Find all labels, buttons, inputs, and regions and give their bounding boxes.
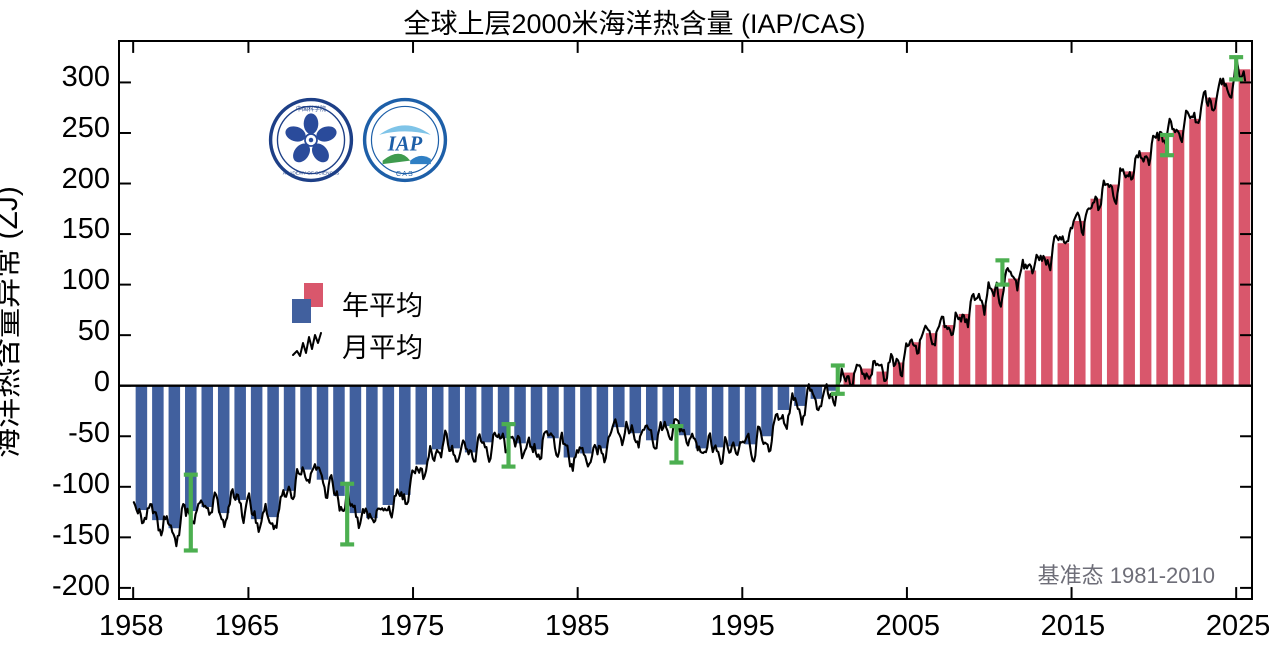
annual-bar	[662, 386, 674, 426]
svg-text:IAP: IAP	[387, 133, 423, 155]
legend-item-annual: 年平均	[290, 282, 423, 324]
legend-label-annual: 年平均	[342, 284, 423, 323]
annual-bar	[136, 386, 148, 510]
annual-bar	[975, 305, 987, 386]
annual-bar	[564, 386, 576, 458]
annual-bar	[597, 386, 609, 449]
annual-bar	[267, 386, 279, 517]
annual-bar	[284, 386, 296, 491]
annual-bar	[350, 386, 362, 513]
annual-bar	[152, 386, 164, 520]
annual-bar	[432, 386, 444, 450]
annual-bar	[580, 386, 592, 454]
annual-bar	[416, 386, 428, 465]
annual-bar	[317, 386, 329, 480]
note-unit: 1 泽塔焦耳 (ZJ) = 1021焦耳	[954, 594, 1215, 600]
annual-bar	[1156, 135, 1168, 386]
annual-bar	[218, 386, 230, 513]
x-tick-label: 2015	[1003, 610, 1143, 643]
annual-bar	[1173, 130, 1185, 386]
annual-bar	[1189, 119, 1201, 386]
note-baseline: 基准态 1981-2010	[1038, 558, 1215, 590]
annual-bar	[1239, 69, 1251, 385]
annual-bar	[399, 386, 411, 495]
legend: 年平均 月平均	[290, 282, 423, 366]
annual-bar	[1058, 243, 1070, 386]
annual-bar	[300, 386, 312, 470]
annual-bar	[1107, 185, 1119, 386]
annual-bar	[251, 386, 263, 519]
annual-bar	[547, 386, 559, 439]
legend-label-monthly: 月平均	[342, 326, 423, 365]
x-tick-label: 1965	[177, 610, 317, 643]
iap-logo: IAP CAS	[362, 97, 448, 183]
x-tick-label: 1995	[672, 610, 812, 643]
annual-bar	[169, 386, 181, 529]
annual-bar	[1123, 171, 1135, 385]
annual-bar	[366, 386, 378, 518]
ocean-heat-content-figure: 全球上层2000米海洋热含量 (IAP/CAS) 300250200150100…	[0, 0, 1269, 663]
annual-bar	[1222, 82, 1234, 385]
annual-swatch-icon	[290, 283, 330, 323]
svg-text:中国科学院: 中国科学院	[296, 105, 326, 113]
annual-bar	[201, 386, 213, 507]
annual-bar	[531, 386, 543, 450]
annual-bar	[1090, 199, 1102, 386]
annual-bar	[1008, 279, 1020, 386]
annual-bar	[761, 386, 773, 437]
note-unit-prefix: 1 泽塔焦耳 (ZJ) = 10	[954, 599, 1155, 600]
annual-bar	[448, 386, 460, 449]
annual-bar	[514, 386, 526, 444]
annual-bar	[695, 386, 707, 449]
annual-bar	[712, 386, 724, 448]
annual-bar	[1025, 270, 1037, 385]
annual-bar	[383, 386, 395, 505]
annual-bar	[333, 386, 345, 496]
x-tick-label: 2005	[838, 610, 978, 643]
note-unit-exponent: 21	[1155, 598, 1171, 600]
monthly-line-icon	[290, 325, 330, 365]
svg-text:CAS: CAS	[396, 171, 414, 178]
annual-bar	[465, 386, 477, 453]
annual-bar	[234, 386, 246, 500]
x-tick-label: 1975	[342, 610, 482, 643]
x-tick-label: 1985	[507, 610, 647, 643]
note-unit-suffix: 焦耳	[1171, 599, 1215, 600]
cas-logo: 中国科学院 ACADEMY OF SCIENCES	[268, 97, 354, 183]
annual-bar	[1206, 98, 1218, 386]
annual-bar	[1041, 256, 1053, 385]
annual-bar	[1140, 152, 1152, 386]
logo-group: 中国科学院 ACADEMY OF SCIENCES IAP CAS	[268, 97, 448, 189]
annual-bar	[481, 386, 493, 443]
annual-bar	[728, 386, 740, 447]
annual-bar	[778, 386, 790, 410]
x-tick-label: 2025	[1168, 610, 1269, 643]
annual-bar	[1074, 221, 1086, 386]
legend-item-monthly: 月平均	[290, 324, 423, 366]
plot-area: 年平均 月平均 基准态 1981-2010 1 泽塔焦耳 (ZJ) = 1021…	[118, 40, 1253, 600]
svg-text:ACADEMY OF SCIENCES: ACADEMY OF SCIENCES	[283, 170, 340, 176]
